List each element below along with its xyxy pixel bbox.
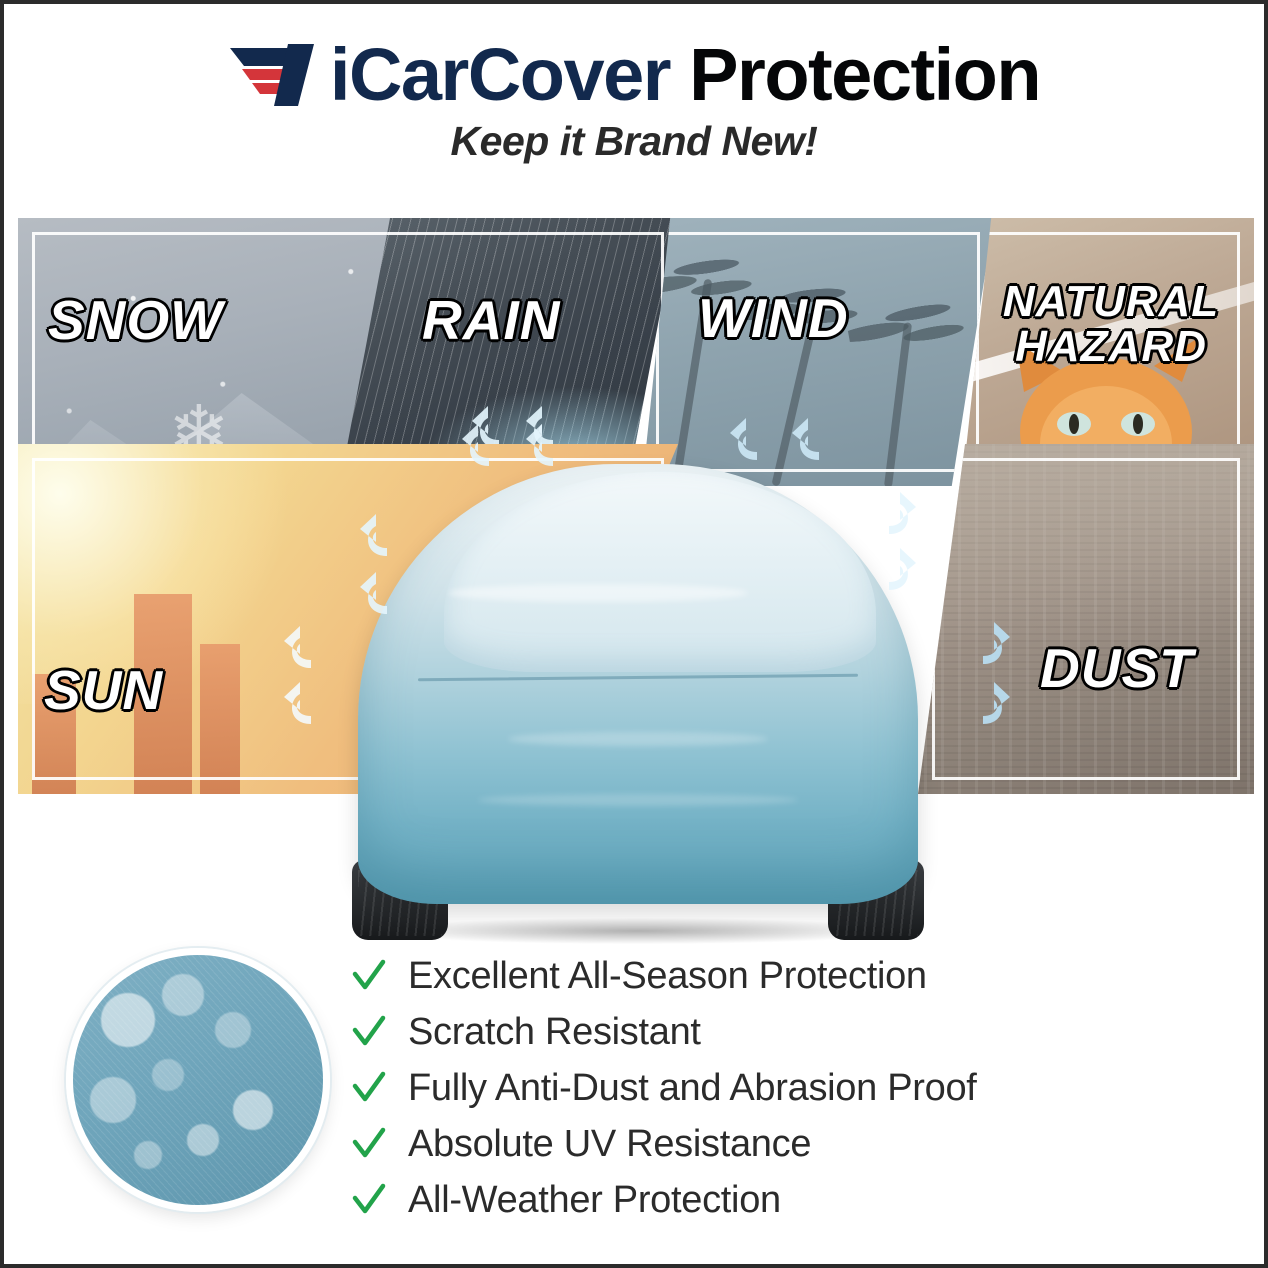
list-item: All-Weather Protection [352, 1172, 1192, 1228]
smog-haze [918, 444, 1254, 794]
car-cover-roof [444, 472, 876, 672]
features-section: Excellent All-Season Protection Scratch … [4, 934, 1264, 1264]
water-beading-fabric-closeup-icon [66, 948, 330, 1212]
product-infographic: iCarCover Protection Keep it Brand New! … [0, 0, 1268, 1268]
list-item: Scratch Resistant [352, 1004, 1192, 1060]
feature-text: All-Weather Protection [408, 1179, 781, 1222]
green-checkmark-icon [352, 959, 386, 993]
cover-crease [508, 732, 768, 746]
cover-crease [448, 584, 748, 602]
curved-deflect-arrow-icon [522, 422, 562, 468]
building [200, 644, 240, 794]
curved-deflect-arrow-icon [458, 422, 498, 468]
panel-label-dust: DUST [1040, 640, 1194, 696]
feature-text: Absolute UV Resistance [408, 1123, 811, 1166]
page-title: iCarCover Protection [330, 37, 1040, 113]
panel-label-natural-hazard: NATURAL HAZARD [980, 280, 1242, 370]
list-item: Absolute UV Resistance [352, 1116, 1192, 1172]
tagline: Keep it Brand New! [4, 118, 1264, 165]
curved-deflect-arrow-icon [974, 620, 1014, 666]
feature-text: Fully Anti-Dust and Abrasion Proof [408, 1067, 977, 1110]
curved-deflect-arrow-icon [974, 680, 1014, 726]
car-cover-body [358, 464, 918, 904]
curved-deflect-arrow-icon [356, 512, 396, 558]
panel-label-snow: SNOW [48, 292, 223, 348]
list-item: Excellent All-Season Protection [352, 948, 1192, 1004]
curved-deflect-arrow-icon [280, 680, 320, 726]
cover-crease [478, 794, 798, 806]
green-checkmark-icon [352, 1015, 386, 1049]
green-checkmark-icon [352, 1071, 386, 1105]
brand-lockup: iCarCover Protection [4, 34, 1264, 116]
panel-label-rain: RAIN [422, 292, 560, 348]
icarcover-wing-flag-logo-icon [228, 44, 320, 106]
curved-deflect-arrow-icon [880, 546, 920, 592]
panel-label-sun: SUN [44, 662, 163, 718]
curved-deflect-arrow-icon [280, 624, 320, 670]
covered-car-product-image [336, 434, 940, 946]
curved-deflect-arrow-icon [880, 490, 920, 536]
curved-deflect-arrow-icon [356, 570, 396, 616]
palm-fronds [844, 288, 972, 364]
feature-list: Excellent All-Season Protection Scratch … [352, 948, 1192, 1228]
panel-dust: DUST [918, 444, 1254, 794]
cover-seam [418, 674, 858, 682]
feature-text: Scratch Resistant [408, 1011, 701, 1054]
brand-name-primary: iCarCover [330, 33, 670, 116]
feature-text: Excellent All-Season Protection [408, 955, 927, 998]
panel-label-wind: WIND [698, 290, 849, 346]
green-checkmark-icon [352, 1183, 386, 1217]
list-item: Fully Anti-Dust and Abrasion Proof [352, 1060, 1192, 1116]
green-checkmark-icon [352, 1127, 386, 1161]
brand-name-secondary: Protection [689, 33, 1040, 116]
header: iCarCover Protection Keep it Brand New! [4, 34, 1264, 165]
